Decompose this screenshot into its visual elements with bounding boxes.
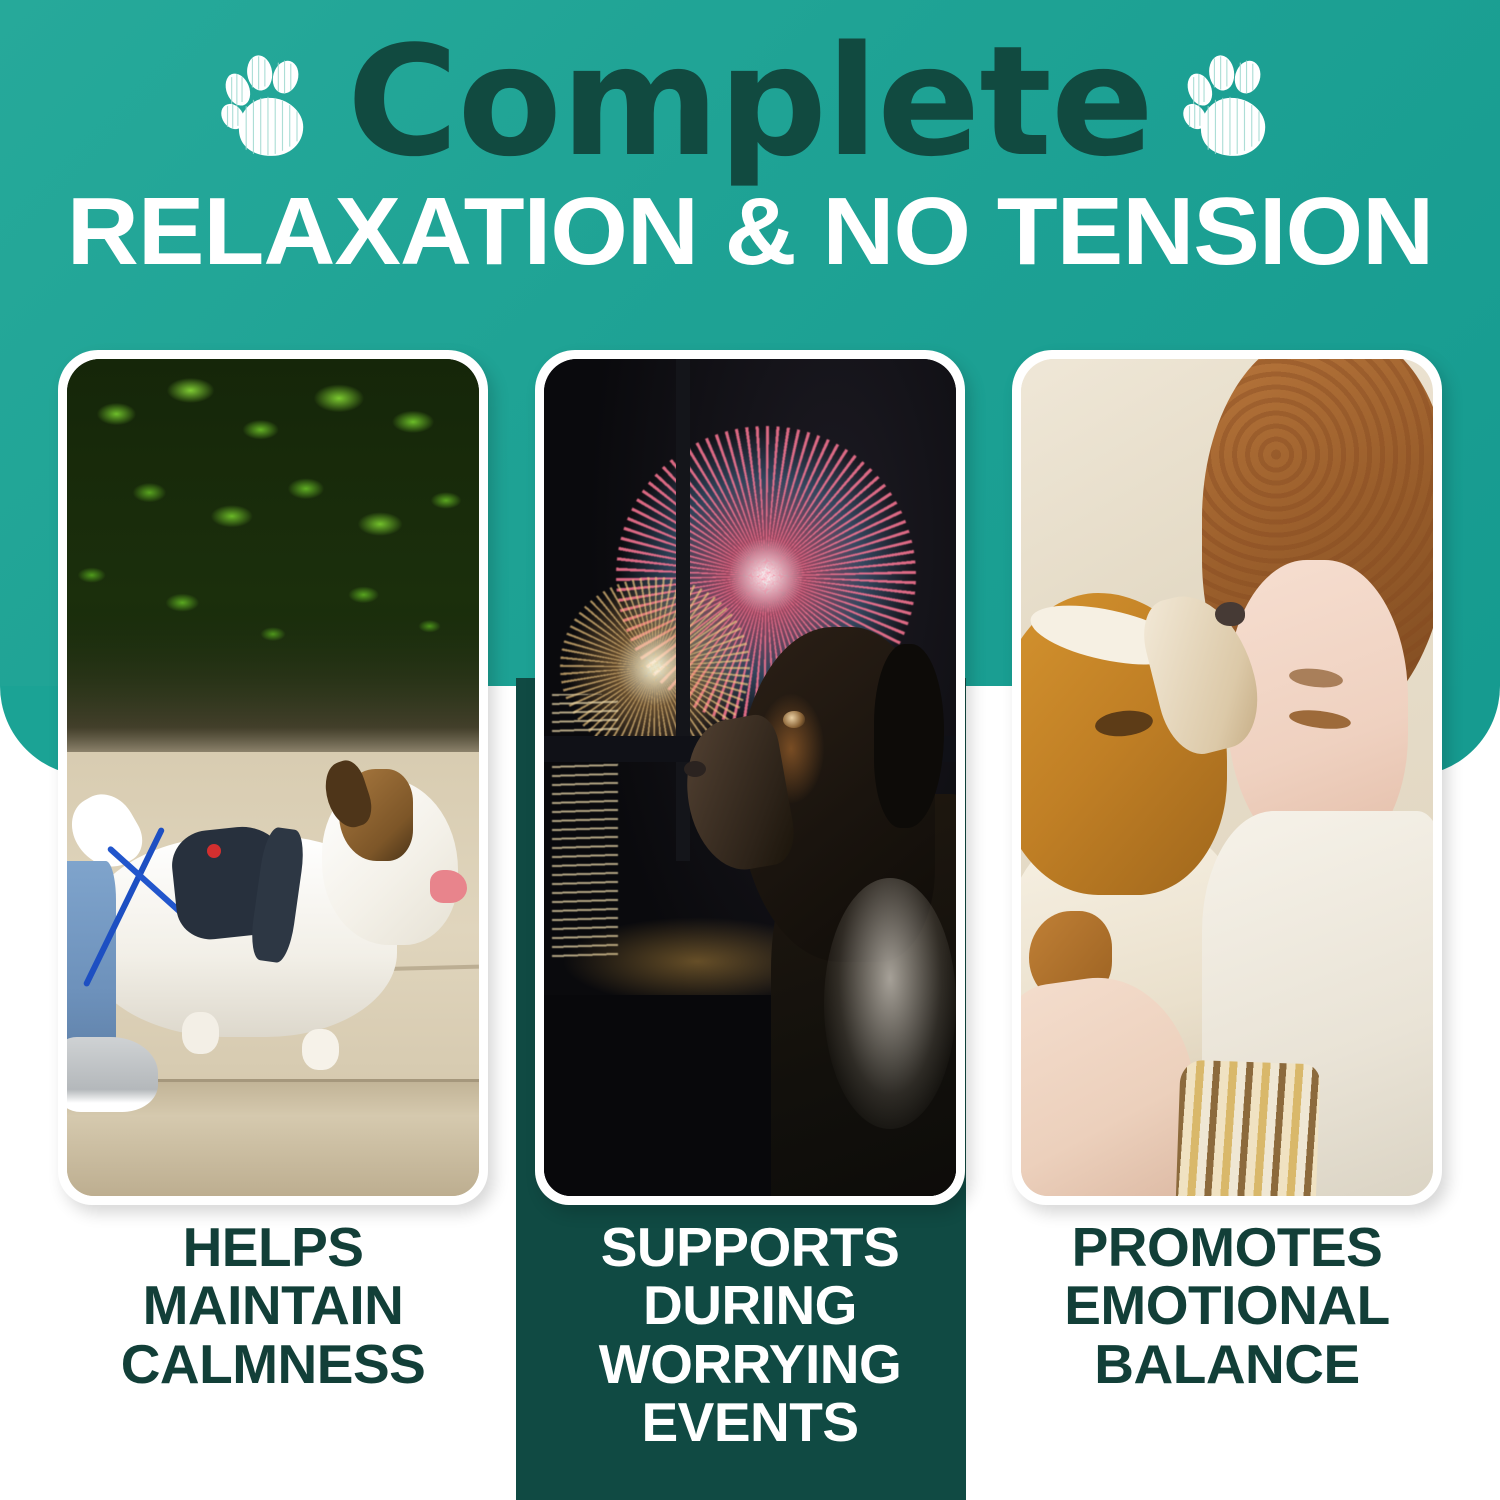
caption-panel-3: PROMOTES EMOTIONAL BALANCE	[1007, 1218, 1447, 1393]
page-subtitle: RELAXATION & NO TENSION	[0, 184, 1500, 280]
title-row: Complete	[0, 0, 1500, 190]
infographic-stage: Complete	[0, 0, 1500, 1500]
caption-panel-2: SUPPORTS DURING WORRYING EVENTS	[530, 1218, 970, 1451]
distant-city-lights	[544, 911, 808, 995]
hedge-foliage	[67, 359, 479, 752]
photo-dog-on-walk	[67, 359, 479, 1196]
dog-eye	[783, 711, 805, 728]
benefit-cards	[0, 350, 1500, 1210]
photo-dog-fireworks	[544, 359, 956, 1196]
owner-sneaker	[67, 1037, 158, 1112]
caption-panel-1: HELPS MAINTAIN CALMNESS	[53, 1218, 493, 1393]
benefit-card-1	[58, 350, 488, 1205]
dog-paw	[302, 1029, 339, 1071]
page-title: Complete	[347, 26, 1153, 178]
dog-paw	[182, 1012, 219, 1054]
photo-child-with-dog	[1021, 359, 1433, 1196]
paw-print-icon-left	[217, 46, 321, 158]
dog-nose	[684, 761, 706, 777]
dog-chest-ruff	[824, 878, 956, 1129]
benefit-card-3	[1012, 350, 1442, 1205]
striped-bedding	[1175, 1060, 1320, 1196]
header: Complete	[0, 0, 1500, 340]
benefit-card-2	[535, 350, 965, 1205]
dog-nose	[1215, 602, 1245, 626]
dog-tongue	[430, 870, 467, 903]
paw-print-icon-right	[1179, 46, 1283, 158]
